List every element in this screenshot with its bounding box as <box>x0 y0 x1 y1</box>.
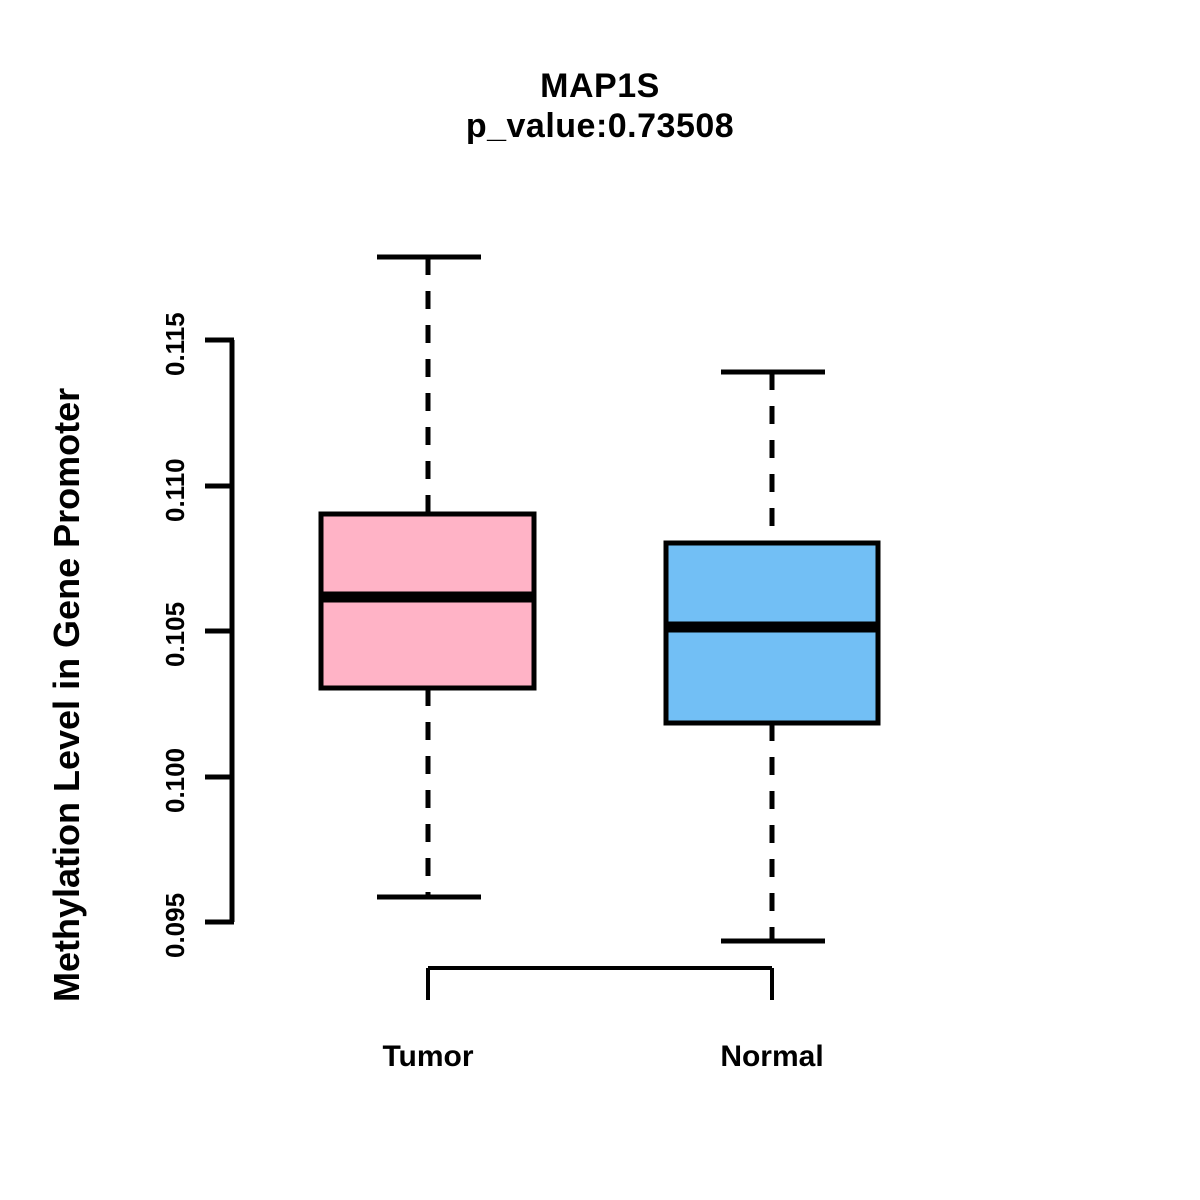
box-normal[interactable] <box>666 372 878 941</box>
x-axis <box>428 968 772 1000</box>
y-axis <box>205 340 234 922</box>
boxplot-figure: MAP1S p_value:0.73508 Methylation Level … <box>0 0 1200 1200</box>
box-tumor[interactable] <box>321 257 534 897</box>
plot-canvas <box>0 0 1200 1200</box>
box-rect-normal[interactable] <box>666 543 878 723</box>
